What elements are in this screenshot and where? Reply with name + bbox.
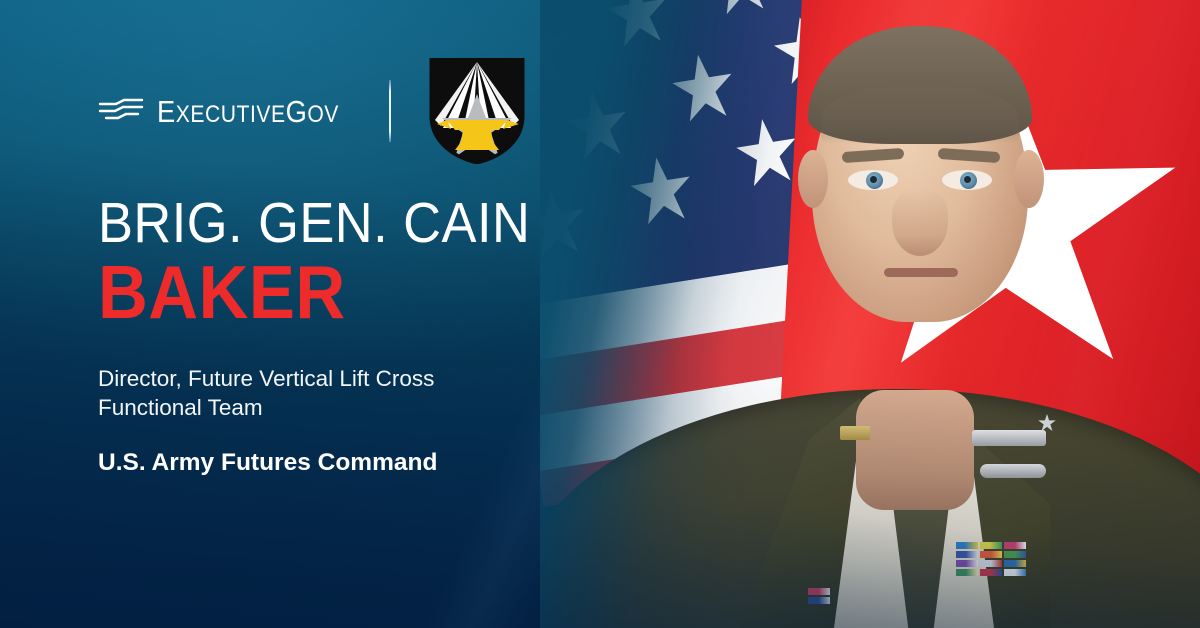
brand-wordmark: EXECUTIVEGOV	[157, 96, 339, 127]
brand-letter-e: E	[157, 94, 176, 129]
eye-left	[848, 170, 898, 190]
us-collar-insignia-icon	[840, 426, 870, 440]
neck	[856, 390, 974, 510]
brand-text-ov: OV	[307, 101, 339, 128]
eye-right	[942, 170, 992, 190]
ribbon-rack-secondary-icon	[808, 588, 830, 604]
rank-and-first-name: BRIG. GEN. CAIN	[98, 196, 530, 252]
ear-left	[798, 150, 828, 208]
role-title: Director, Future Vertical Lift Cross Fun…	[98, 364, 518, 423]
organization-name: U.S. Army Futures Command	[98, 448, 568, 479]
hair	[808, 26, 1032, 144]
aviator-wings-badge-icon	[980, 464, 1046, 478]
combat-badge-icon	[972, 430, 1046, 446]
mouth	[884, 268, 958, 277]
ribbon-rack-icon	[956, 542, 1026, 576]
person-info: BRIG. GEN. CAIN BAKER Director, Future V…	[98, 196, 568, 479]
brand-text-xecutive: XECUTIVE	[176, 101, 286, 128]
ear-right	[1014, 150, 1044, 208]
portrait-subject	[540, 0, 1200, 628]
brand-header: EXECUTIVEGOV	[98, 58, 525, 164]
executivegov-logo[interactable]: EXECUTIVEGOV	[98, 96, 364, 127]
portrait-photo	[540, 0, 1200, 628]
waves-icon	[98, 97, 144, 125]
portrait-photo-content	[540, 0, 1200, 628]
vertical-divider	[389, 80, 391, 142]
army-futures-command-shield-icon	[429, 58, 525, 164]
brand-letter-g: G	[286, 94, 308, 129]
nose	[892, 188, 948, 256]
last-name: BAKER	[98, 256, 530, 328]
executivegov-feature-card: EXECUTIVEGOV	[0, 0, 1200, 628]
